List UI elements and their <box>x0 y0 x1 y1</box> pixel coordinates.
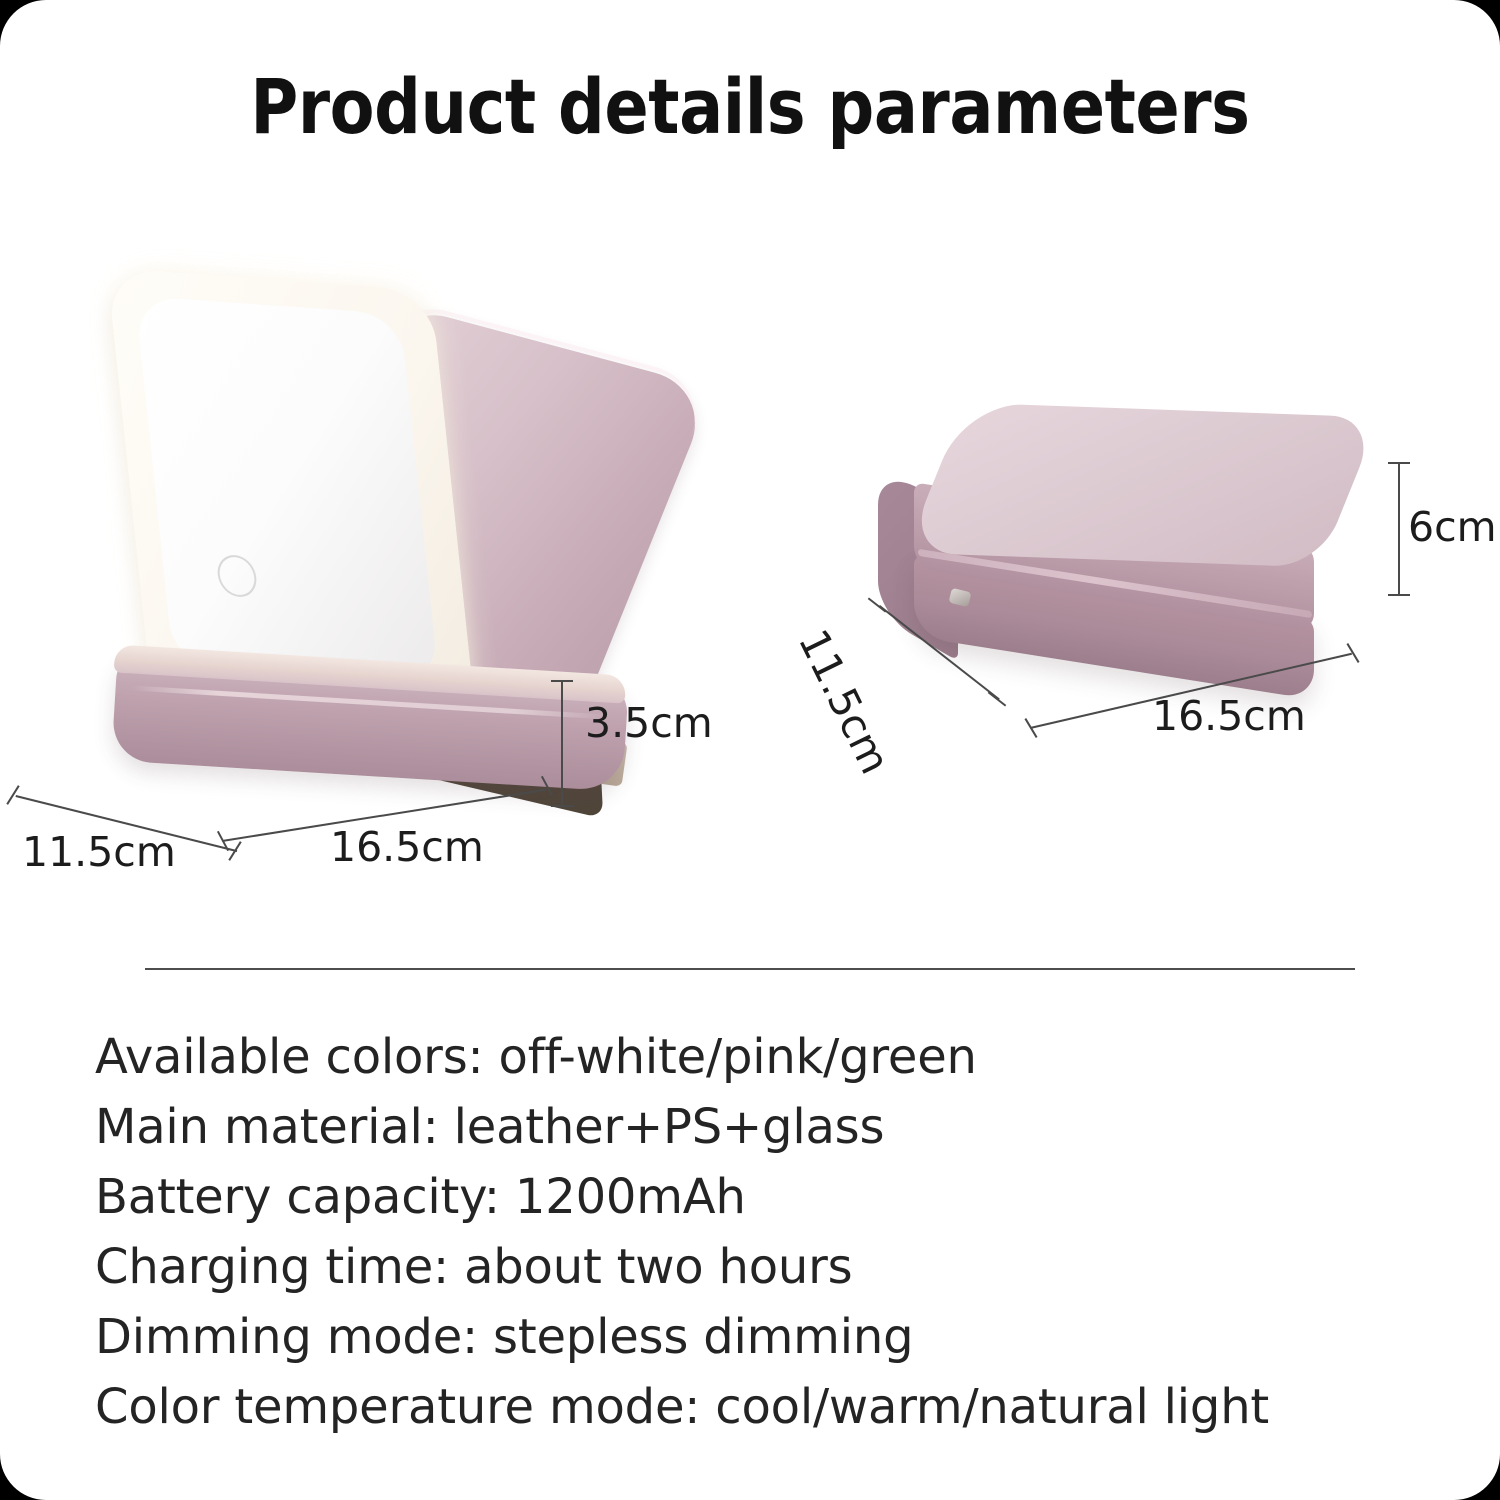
case-lid-top <box>905 403 1380 568</box>
page-title: Product details parameters <box>105 62 1395 151</box>
product-detail-card: Product details parameters 3.5cm <box>0 0 1500 1500</box>
dimension-label-height-closed: 6cm <box>1408 503 1497 551</box>
product-illustrations: 3.5cm 11.5cm 16.5cm <box>0 180 1500 920</box>
spec-line-dimming: Dimming mode: stepless dimming <box>95 1302 1425 1372</box>
spec-list: Available colors: off-white/pink/green M… <box>95 1022 1425 1442</box>
spec-line-material: Main material: leather+PS+glass <box>95 1092 1425 1162</box>
spec-line-colors: Available colors: off-white/pink/green <box>95 1022 1425 1092</box>
spec-line-charging: Charging time: about two hours <box>95 1232 1425 1302</box>
section-divider <box>145 968 1355 970</box>
dimension-label-height-open: 3.5cm <box>585 699 713 747</box>
dimension-label-depth-open: 11.5cm <box>22 828 176 876</box>
open-led-mirror-case <box>90 230 710 850</box>
led-mirror-glass <box>135 296 439 685</box>
spec-line-color-temp: Color temperature mode: cool/warm/natura… <box>95 1372 1425 1442</box>
dimension-label-width-closed: 16.5cm <box>1152 692 1306 740</box>
spec-line-battery: Battery capacity: 1200mAh <box>95 1162 1425 1232</box>
closed-case <box>830 410 1390 740</box>
dimension-label-width-open: 16.5cm <box>330 823 484 871</box>
